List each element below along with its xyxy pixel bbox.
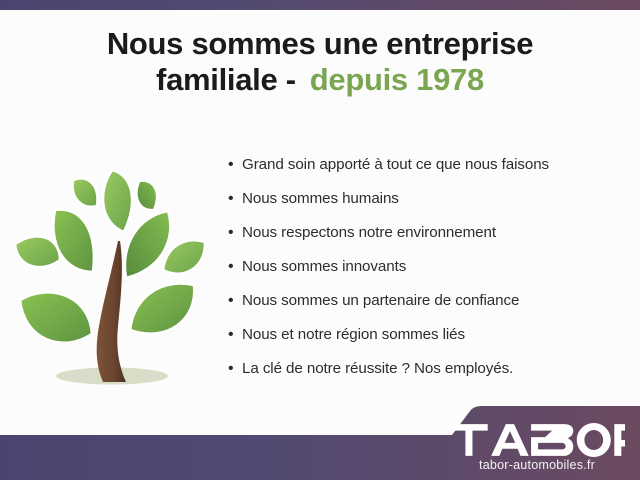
footer-band: tabor-automobiles.fr [0,400,640,480]
list-item-label: Nous et notre région sommes liés [242,318,465,352]
list-item-label: La clé de notre réussite ? Nos employés. [242,352,513,386]
list-item: • Nous sommes innovants [228,250,628,284]
tabor-wordmark-icon[interactable] [449,423,625,457]
page-title-accent: depuis 1978 [310,62,484,97]
bullet-dot-icon: • [228,182,242,216]
bullet-dot-icon: • [228,284,242,318]
page-title: Nous sommes une entreprise familiale -de… [0,26,640,98]
bullet-dot-icon: • [228,352,242,386]
list-item: • Nous respectons notre environnement [228,216,628,250]
top-accent-bar [0,0,640,10]
brand-url[interactable]: tabor-automobiles.fr [448,458,626,472]
list-item-label: Nous sommes innovants [242,250,406,284]
list-item: • La clé de notre réussite ? Nos employé… [228,352,628,386]
list-item-label: Nous sommes humains [242,182,399,216]
list-item-label: Grand soin apporté à tout ce que nous fa… [242,148,549,182]
bullet-dot-icon: • [228,318,242,352]
page-title-line-2: familiale -depuis 1978 [0,62,640,98]
list-item-label: Nous respectons notre environnement [242,216,496,250]
tree-trunk [97,241,126,382]
list-item: • Nous et notre région sommes liés [228,318,628,352]
bullet-dot-icon: • [228,216,242,250]
brand-logo[interactable]: tabor-automobiles.fr [448,423,626,472]
list-item: • Grand soin apporté à tout ce que nous … [228,148,628,182]
bullet-dot-icon: • [228,148,242,182]
page-title-line-1: Nous sommes une entreprise [0,26,640,62]
bullet-dot-icon: • [228,250,242,284]
bullet-list: • Grand soin apporté à tout ce que nous … [228,148,628,386]
list-item: • Nous sommes un partenaire de confiance [228,284,628,318]
slide-canvas: Nous sommes une entreprise familiale -de… [0,0,640,480]
tree-illustration [8,148,218,394]
tree-illustration-svg [8,148,218,394]
list-item-label: Nous sommes un partenaire de confiance [242,284,519,318]
page-title-line-2-main: familiale - [156,62,296,97]
list-item: • Nous sommes humains [228,182,628,216]
